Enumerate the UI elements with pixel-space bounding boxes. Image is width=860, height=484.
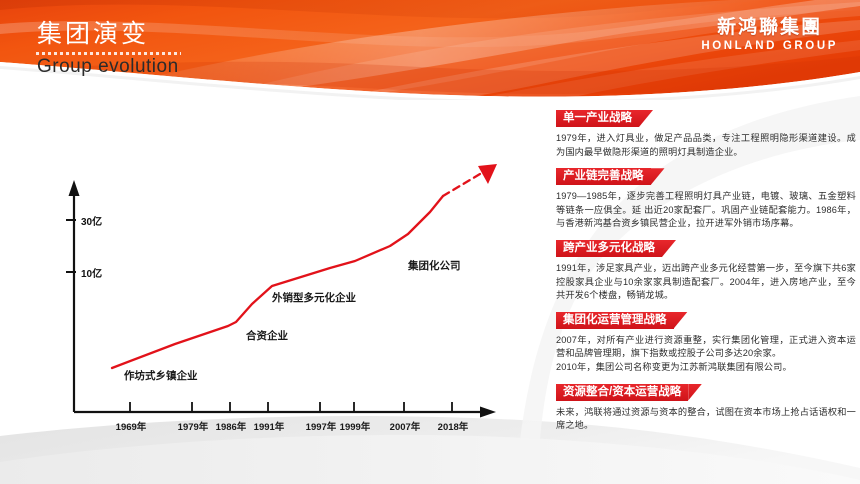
section-title-1: 单一产业战略 [556,110,639,127]
x-tick-label-1999: 1999年 [334,419,376,433]
ribbon-tip-2 [651,168,665,185]
company-logo: 新鸿聯集團 HONLAND GROUP [701,16,838,53]
y-tick-label-30: 30亿 [81,213,102,228]
logo-text-cn: 新鸿聯集團 [701,16,838,38]
x-axis-arrowhead [480,407,496,418]
section-body-5: 未来，鸿联将通过资源与资本的整合，试图在资本市场上抢占话语权和一席之地。 [556,406,856,433]
section-header-5: 资源整合/资本运营战略 [556,384,688,401]
section-title-3: 跨产业多元化战略 [556,240,662,257]
strategy-panel: 单一产业战略 1979年，进入灯具业，做足产品品类，专注工程照明隐形渠道建设。成… [556,108,856,440]
logo-text-en: HONLAND GROUP [701,39,838,53]
section-header-4: 集团化运营管理战略 [556,312,674,329]
x-tick-label-2007: 2007年 [384,419,426,433]
page-title-en: Group evolution [37,54,179,80]
section-title-2: 产业链完善战略 [556,168,651,185]
x-ticks [130,402,452,412]
page-title-cn: 集团演变 [37,19,149,49]
x-tick-label-2018: 2018年 [432,419,474,433]
ribbon-tip-1 [639,110,653,127]
slide-root: 集团演变 Group evolution 新鸿聯集團 HONLAND GROUP [0,0,860,484]
section-header-1: 单一产业战略 [556,110,639,127]
strategy-section-5: 资源整合/资本运营战略 未来，鸿联将通过资源与资本的整合，试图在资本市场上抢占话… [556,382,856,433]
section-body-3: 1991年，涉足家具产业，迈出跨产业多元化经营第一步，至今旗下共6家控股家具企业… [556,262,856,303]
ribbon-tip-3 [662,240,676,257]
strategy-section-1: 单一产业战略 1979年，进入灯具业，做足产品品类，专注工程照明隐形渠道建设。成… [556,108,856,159]
stage-label-joint-venture: 合资企业 [246,328,288,343]
x-tick-label-1991: 1991年 [248,419,290,433]
section-title-4: 集团化运营管理战略 [556,312,674,329]
section-header-3: 跨产业多元化战略 [556,240,662,257]
page-header: 集团演变 Group evolution 新鸿聯集團 HONLAND GROUP [0,0,860,100]
strategy-section-2: 产业链完善战略 1979—1985年，逐步完善工程照明灯具产业链，电镀、玻璃、五… [556,166,856,231]
y-tick-label-10: 10亿 [81,265,102,280]
section-header-2: 产业链完善战略 [556,168,651,185]
x-tick-label-1979: 1979年 [172,419,214,433]
evolution-line-chart: 30亿 10亿 1969年 1979年 1986年 1991年 1997年 19… [0,96,540,484]
stage-label-workshop: 作坊式乡镇企业 [124,368,198,383]
section-body-2: 1979—1985年，逐步完善工程照明灯具产业链，电镀、玻璃、五金塑料等链条一应… [556,190,856,231]
strategy-section-3: 跨产业多元化战略 1991年，涉足家具产业，迈出跨产业多元化经营第一步，至今旗下… [556,238,856,303]
ribbon-tip-4 [674,312,688,329]
y-axis-arrowhead [69,180,80,196]
stage-label-group-company: 集团化公司 [408,258,461,273]
x-tick-label-1986: 1986年 [210,419,252,433]
section-body-4: 2007年，对所有产业进行资源重整，实行集团化管理，正式进入资本运营和品牌管理期… [556,334,856,375]
strategy-section-4: 集团化运营管理战略 2007年，对所有产业进行资源重整，实行集团化管理，正式进入… [556,310,856,375]
series-line-dashed [443,174,480,196]
ribbon-tip-5 [688,384,702,401]
x-tick-label-1969: 1969年 [110,419,152,433]
section-body-1: 1979年，进入灯具业，做足产品品类，专注工程照明隐形渠道建设。成为国内最早做隐… [556,132,856,159]
stage-label-export-diversified: 外销型多元化企业 [272,290,356,305]
section-title-5: 资源整合/资本运营战略 [556,384,688,401]
